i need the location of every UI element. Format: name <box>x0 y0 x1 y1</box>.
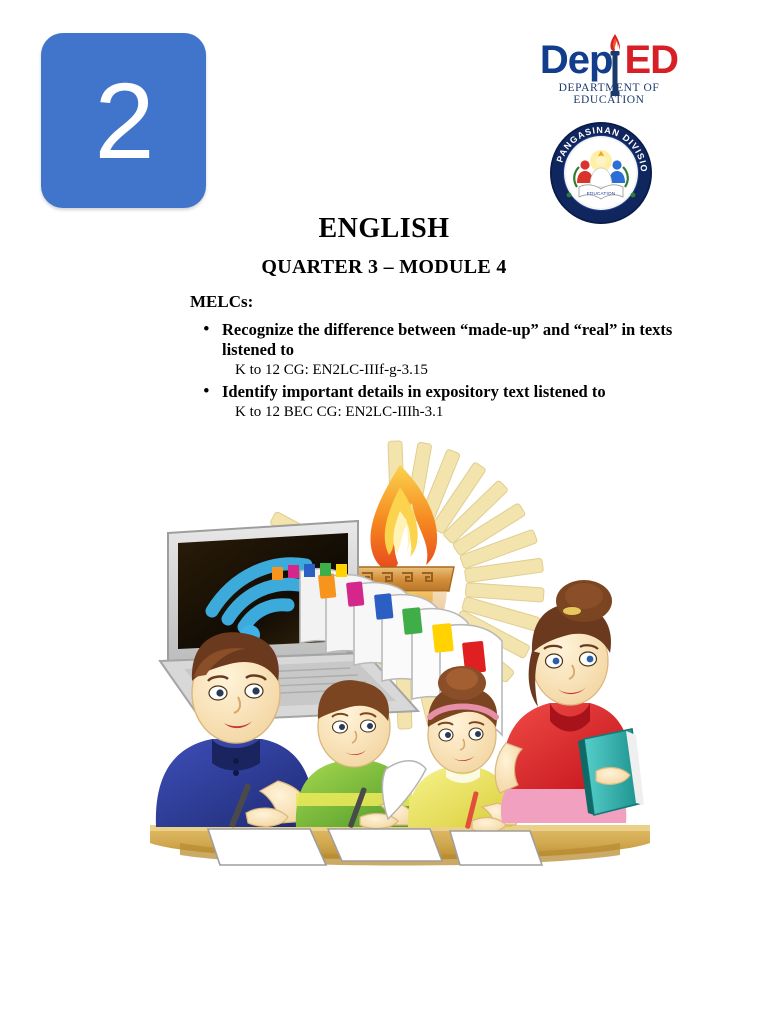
learning-illustration <box>150 425 650 935</box>
page-title: ENGLISH <box>0 213 768 245</box>
doc-tab <box>318 573 336 599</box>
page-subtitle: QUARTER 3 – MODULE 4 <box>0 256 768 279</box>
melc-competency-text: Recognize the difference between “made-u… <box>222 320 710 360</box>
melc-code: K to 12 BEC CG: EN2LC-IIIh-3.1 <box>235 402 710 422</box>
hair-tie <box>563 607 581 615</box>
doc-tab <box>374 593 394 620</box>
paper <box>450 831 542 865</box>
grade-level-badge: 2 <box>41 33 206 208</box>
list-item: Recognize the difference between “made-u… <box>190 320 710 380</box>
deped-wordmark: DepED <box>528 36 690 84</box>
doc-tab <box>402 607 423 635</box>
torch-icon <box>605 32 625 98</box>
paper <box>208 829 326 865</box>
melc-competency-text: Identify important details in expository… <box>222 382 710 402</box>
melc-code: K to 12 CG: EN2LC-IIIf-g-3.15 <box>235 360 710 380</box>
doc-tab <box>346 581 364 607</box>
list-item: Identify important details in expository… <box>190 382 710 422</box>
paper <box>328 829 442 861</box>
seal-inner-text: EDUCATION <box>587 191 616 196</box>
doc-tab <box>432 623 454 653</box>
melcs-list: Recognize the difference between “made-u… <box>190 320 710 424</box>
grade-level-number: 2 <box>94 67 152 175</box>
melcs-label: MELCs: <box>190 292 253 312</box>
division-seal-icon: EDUCATION PANGASINAN DIVISION II 1990 <box>549 121 653 225</box>
deped-logo: DepED DEPARTMENT OF EDUCATION <box>528 36 690 108</box>
deped-ed-text: ED <box>625 36 679 84</box>
deped-dep-text: Dep <box>540 36 613 84</box>
